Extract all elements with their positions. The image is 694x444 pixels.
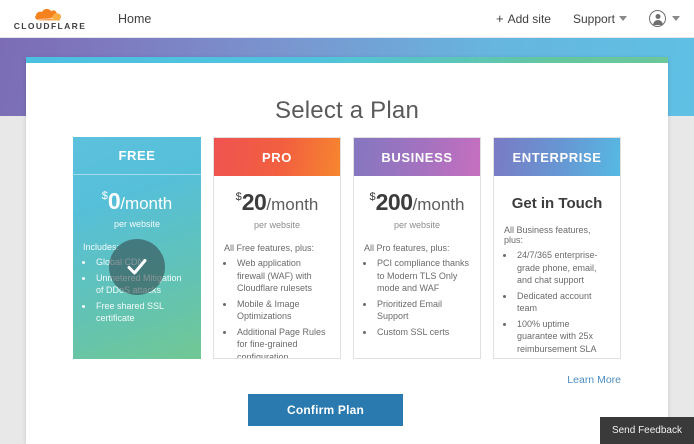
plan-selection-panel: Select a Plan FREE $0/month per website … (26, 57, 668, 444)
plus-icon: + (496, 11, 504, 26)
price-subtext: per website (83, 219, 191, 229)
plan-card-free[interactable]: FREE $0/month per website Includes: Glob… (73, 137, 201, 359)
plan-card-business[interactable]: BUSINESS $200/month per website All Pro … (353, 137, 481, 359)
feature-list: PCI compliance thanks to Modern TLS Only… (375, 257, 470, 338)
cloudflare-cloud-icon (30, 6, 70, 22)
feature-list: Web application firewall (WAF) with Clou… (235, 257, 330, 359)
plan-card-enterprise[interactable]: ENTERPRISE Get in Touch All Business fea… (493, 137, 621, 359)
plan-name: FREE (118, 148, 155, 163)
panel-top-accent-stripe (26, 57, 668, 63)
support-menu[interactable]: Support (573, 12, 627, 26)
feature-item: 24/7/365 enterprise-grade phone, email, … (515, 249, 610, 287)
feature-item: 100% uptime guarantee with 25x reimburse… (515, 318, 610, 356)
support-label: Support (573, 12, 615, 26)
price-amount: 0 (108, 188, 120, 214)
add-site-label: Add site (508, 12, 551, 26)
plan-card-body: $20/month per website All Free features,… (214, 176, 340, 359)
nav-right-group: + Add site Support (496, 10, 680, 27)
plan-card-pro[interactable]: PRO $20/month per website All Free featu… (213, 137, 341, 359)
price-subtext: per website (224, 220, 330, 230)
plan-price: $200/month (364, 191, 470, 214)
feature-item: Dedicated account team (515, 290, 610, 315)
price-period: /month (120, 194, 172, 213)
plan-card-header: FREE (73, 137, 201, 175)
contact-title: Get in Touch (504, 195, 610, 212)
feature-item: PCI compliance thanks to Modern TLS Only… (375, 257, 470, 295)
feature-item: Free shared SSL certificate (94, 300, 191, 325)
plan-card-header: PRO (214, 138, 340, 176)
cloudflare-wordmark: CLOUDFLARE (14, 22, 87, 31)
price-period: /month (266, 195, 318, 214)
feature-item: Additional Page Rules for fine-grained c… (235, 326, 330, 360)
add-site-button[interactable]: + Add site (496, 11, 551, 26)
selected-check-badge (109, 239, 165, 295)
plan-name: PRO (262, 150, 292, 165)
plan-name: BUSINESS (381, 150, 452, 165)
plan-price: $20/month (224, 191, 330, 214)
plan-card-header: ENTERPRISE (494, 138, 620, 176)
user-avatar-icon (649, 10, 666, 27)
feature-item: Access to raw request logs (515, 358, 610, 359)
plan-card-body: $200/month per website All Pro features,… (354, 176, 480, 358)
feature-list: 24/7/365 enterprise-grade phone, email, … (515, 249, 610, 359)
check-icon (124, 254, 150, 280)
nav-item-home[interactable]: Home (118, 12, 151, 26)
plan-card-body: $0/month per website Includes: Global CD… (73, 175, 201, 359)
plan-card-list: FREE $0/month per website Includes: Glob… (73, 137, 621, 359)
plan-name: ENTERPRISE (512, 150, 601, 165)
features-intro: All Business features, plus: (504, 225, 610, 245)
price-amount: 200 (376, 189, 413, 215)
price-subtext: per website (364, 220, 470, 230)
feature-item: Custom SSL certs (375, 326, 470, 339)
price-amount: 20 (242, 189, 267, 215)
top-navigation-bar: CLOUDFLARE Home + Add site Support (0, 0, 694, 38)
feature-item: Prioritized Email Support (375, 298, 470, 323)
features-intro: All Free features, plus: (224, 243, 330, 253)
page-title: Select a Plan (26, 97, 668, 125)
send-feedback-tab[interactable]: Send Feedback (600, 417, 694, 444)
price-period: /month (413, 195, 465, 214)
confirm-plan-button[interactable]: Confirm Plan (248, 394, 403, 426)
feature-item: Mobile & Image Optimizations (235, 298, 330, 323)
learn-more-link[interactable]: Learn More (567, 374, 621, 386)
page-root: CLOUDFLARE Home + Add site Support Selec… (0, 0, 694, 444)
cloudflare-logo[interactable]: CLOUDFLARE (10, 6, 90, 31)
plan-price: $0/month (83, 190, 191, 213)
chevron-down-icon (672, 16, 680, 21)
feature-item: Web application firewall (WAF) with Clou… (235, 257, 330, 295)
plan-card-header: BUSINESS (354, 138, 480, 176)
plan-card-body: Get in Touch All Business features, plus… (494, 176, 620, 359)
account-menu[interactable] (649, 10, 680, 27)
chevron-down-icon (619, 16, 627, 21)
features-intro: All Pro features, plus: (364, 243, 470, 253)
